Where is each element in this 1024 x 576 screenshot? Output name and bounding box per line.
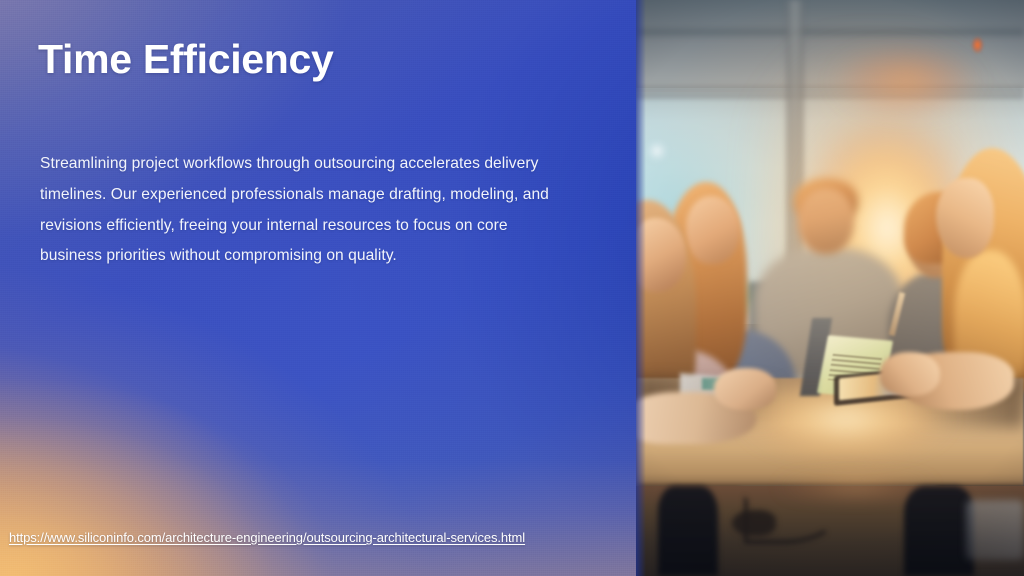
seated-legs-left [658, 486, 718, 576]
bokeh-highlight-icon [644, 138, 670, 164]
chair-base [966, 500, 1024, 560]
person-left-front-hands [714, 368, 776, 410]
seated-legs-right [904, 486, 974, 576]
lens-flare-dot-icon [971, 36, 984, 54]
body-paragraph: Streamlining project workflows through o… [40, 149, 560, 272]
source-url-link[interactable]: https://www.siliconinfo.com/architecture… [9, 529, 525, 546]
slide-canvas: Time Efficiency Streamlining project wor… [0, 0, 1024, 576]
person-center-head [798, 188, 854, 254]
meeting-photo [636, 0, 1024, 576]
page-title: Time Efficiency [38, 34, 334, 84]
lens-flare-top [816, 0, 996, 126]
person-right-front-face [936, 178, 994, 258]
left-content-panel: Time Efficiency Streamlining project wor… [0, 0, 636, 576]
shoe [732, 510, 776, 536]
person-right-front-hands [880, 352, 940, 396]
panel-content: Time Efficiency Streamlining project wor… [0, 0, 636, 576]
person-left-mid-face [686, 196, 740, 264]
